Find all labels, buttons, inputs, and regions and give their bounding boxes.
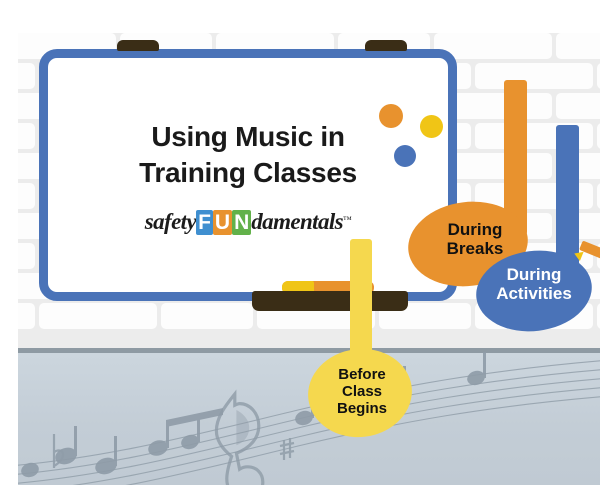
poster-canvas: Using Music in Training Classes safetyFU… — [0, 0, 600, 485]
logo-letter-u: U — [213, 210, 232, 235]
page-title-line1: Using Music in — [39, 119, 457, 155]
whiteboard-mount-bracket-left — [117, 40, 159, 51]
note-label-line2: Activities — [472, 284, 596, 303]
callout-note-before-class-begins[interactable]: Before Class Begins — [308, 239, 418, 449]
note-label-line1: Before — [320, 367, 404, 384]
note-label-before-class-begins: Before Class Begins — [320, 367, 404, 417]
callout-note-during-activities[interactable]: During Activities — [476, 125, 600, 340]
brick — [18, 303, 35, 329]
brick — [18, 243, 35, 269]
brick — [556, 93, 600, 119]
note-label-line2: Class — [320, 384, 404, 401]
brick — [556, 33, 600, 59]
whiteboard-title-block: Using Music in Training Classes — [39, 119, 457, 191]
whiteboard-mount-bracket-right — [365, 40, 407, 51]
logo-trademark-icon: ™ — [343, 215, 351, 225]
brick — [18, 123, 35, 149]
brick — [18, 63, 35, 89]
note-label-line3: Begins — [320, 401, 404, 418]
logo-text-safety: safety — [145, 209, 196, 234]
artwork-area: Using Music in Training Classes safetyFU… — [18, 33, 600, 485]
brick — [18, 183, 35, 209]
note-label-line1: During — [472, 265, 596, 284]
brick — [39, 303, 157, 329]
brick — [161, 303, 253, 329]
brand-logo: safetyFUNdamentals™ — [39, 209, 457, 235]
logo-letter-f: F — [196, 210, 213, 235]
logo-text-damentals: damentals — [251, 209, 343, 234]
note-label-during-activities: During Activities — [472, 265, 596, 303]
page-title-line2: Training Classes — [39, 155, 457, 191]
logo-letter-n: N — [232, 210, 251, 235]
